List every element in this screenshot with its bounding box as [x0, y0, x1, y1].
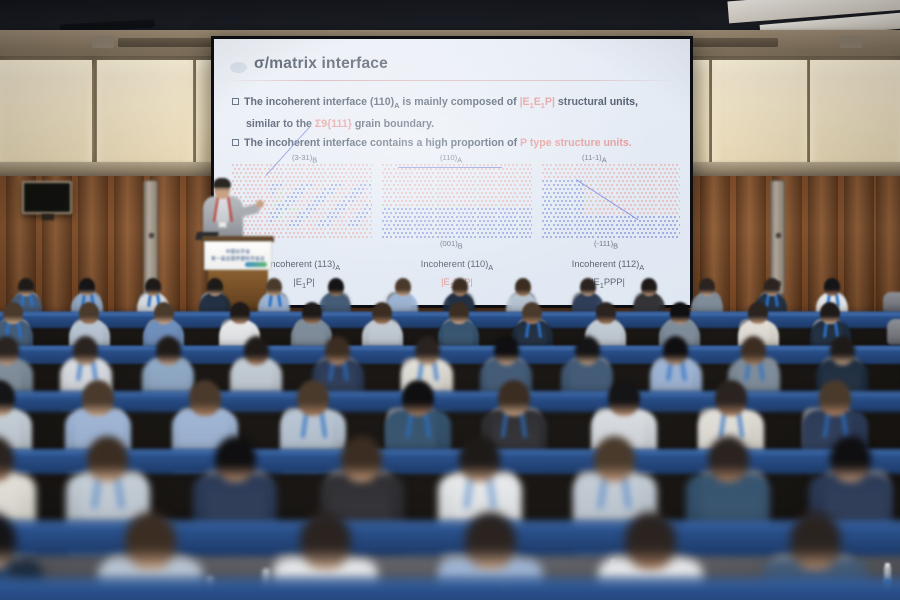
audience-head — [73, 336, 98, 365]
audience-head — [215, 436, 256, 482]
backlit-panel-l1 — [0, 60, 92, 164]
audience-head — [328, 278, 344, 296]
figure-left-top-label: (3-31)B — [292, 153, 317, 165]
bullet-item-1-cont: similar to the Σ9{111} grain boundary. — [232, 115, 676, 134]
slide-bullet-list: The incoherent interface (110)A is mainl… — [232, 93, 676, 153]
audience-head — [372, 302, 392, 324]
panel-seam-l1 — [94, 60, 97, 164]
audience-head — [494, 336, 519, 365]
audience-head — [596, 302, 616, 324]
backlit-panel-l2 — [96, 60, 194, 164]
audience-head — [79, 302, 99, 324]
audience-head — [0, 336, 19, 365]
audience-head — [641, 278, 657, 296]
slide-figures: (3-31)B (11-3)A (110)A (001)B (1 — [232, 155, 676, 255]
backlit-panel-r2 — [712, 60, 808, 164]
beam-end-cap-right — [840, 36, 862, 48]
audience-head — [498, 380, 530, 416]
figure-right: (11-1)A (-111)B — [542, 155, 680, 255]
audience-head — [764, 278, 780, 296]
audience-head — [625, 512, 676, 570]
wall-mounted-display — [22, 181, 72, 214]
presenter-glasses — [215, 187, 229, 190]
audience-head — [670, 302, 690, 324]
audience-head — [415, 336, 440, 365]
panel-seam-r1 — [709, 60, 712, 164]
audience-head — [302, 302, 322, 324]
conference-table-edge — [0, 580, 900, 584]
audience-head — [708, 436, 749, 482]
bullet-text-1: The incoherent interface (110)A is mainl… — [244, 93, 638, 115]
audience-head — [830, 436, 871, 482]
slide-title: σ/matrix interface — [254, 55, 388, 73]
audience-head — [459, 436, 500, 482]
audience-head — [824, 278, 840, 296]
water-bottle-cap — [885, 563, 890, 567]
slide-title-rule — [232, 80, 672, 81]
audience-head — [266, 278, 282, 296]
audience-head — [125, 512, 176, 570]
audience-head — [830, 336, 855, 365]
audience-head — [79, 278, 95, 296]
audience-head — [748, 302, 768, 324]
presenter-hand — [256, 200, 264, 208]
audience-head — [82, 380, 114, 416]
chair — [883, 292, 900, 313]
audience-head — [594, 436, 635, 482]
audience-head — [452, 278, 468, 296]
conference-hall-photo: σ/matrix interface The incoherent interf… — [0, 0, 900, 600]
audience-head — [154, 302, 174, 324]
audience-head — [145, 278, 161, 296]
audience-head — [395, 278, 411, 296]
audience-head — [449, 302, 469, 324]
audience-head — [156, 336, 181, 365]
audience-head — [580, 278, 596, 296]
audience-head — [819, 380, 851, 416]
audience-head — [325, 336, 350, 365]
audience-head — [790, 512, 841, 570]
audience-head — [699, 278, 715, 296]
wall-display-mount — [42, 214, 54, 220]
audience-head — [522, 302, 542, 324]
chair — [887, 319, 900, 345]
audience-head — [230, 302, 250, 324]
audience-head — [244, 336, 269, 365]
figure-center-lattice — [382, 164, 532, 238]
conference-table-edge — [0, 450, 900, 454]
audience-head — [207, 278, 223, 296]
bullet-text-1-cont: similar to the Σ9{111} grain boundary. — [246, 115, 434, 134]
audience-head — [87, 436, 128, 482]
bullet-square-icon — [232, 139, 239, 146]
backlit-panel-r3 — [810, 60, 900, 164]
figure-right-bottom-label: (-111)B — [594, 239, 618, 251]
figure-center-top-label: (110)A — [440, 153, 462, 165]
figure-right-top-label: (11-1)A — [582, 153, 607, 165]
wall-ledge-left — [0, 162, 218, 177]
panel-seam-l2 — [193, 60, 196, 164]
figure-left-lattice — [232, 164, 372, 238]
wall-ledge-right — [686, 162, 900, 177]
audience-head — [297, 380, 329, 416]
bullet-item-1: The incoherent interface (110)A is mainl… — [232, 93, 676, 115]
beam-end-cap-left — [92, 36, 114, 48]
figure-center: (110)A (001)B — [382, 155, 532, 255]
audience-head — [341, 436, 382, 482]
bullet-text-2: The incoherent interface contains a high… — [244, 134, 632, 153]
audience-head — [3, 302, 23, 324]
water-bottle-cap — [263, 569, 269, 573]
audience-head — [402, 380, 434, 416]
figure-center-bottom-label: (001)B — [440, 239, 463, 251]
audience-head — [663, 336, 688, 365]
audience-head — [189, 380, 221, 416]
panel-seam-r2 — [807, 60, 810, 164]
audience-head — [575, 336, 600, 365]
audience-head — [515, 278, 531, 296]
conference-table-edge — [0, 392, 900, 396]
bullet-square-icon — [232, 98, 239, 105]
audience-head — [300, 512, 351, 570]
audience-head — [465, 512, 516, 570]
audience-head — [608, 380, 640, 416]
presenter-badge — [218, 221, 227, 228]
audience-head — [741, 336, 766, 365]
audience-head — [715, 380, 747, 416]
audience-area — [0, 250, 900, 600]
audience-head — [820, 302, 840, 324]
slide-title-bullet-icon — [230, 62, 247, 73]
audience-head — [18, 278, 34, 296]
